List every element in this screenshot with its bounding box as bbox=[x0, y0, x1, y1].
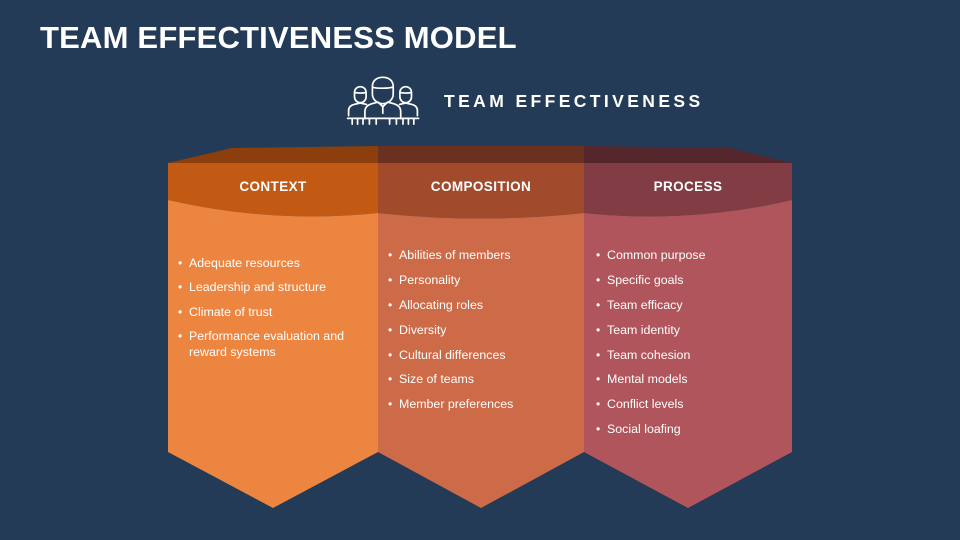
bullet-icon: • bbox=[178, 256, 189, 271]
cap-context bbox=[168, 146, 378, 163]
list-item-label: Adequate resources bbox=[189, 256, 378, 271]
list-item: • Performance evaluation and reward syst… bbox=[178, 329, 378, 360]
bullet-icon: • bbox=[596, 372, 607, 387]
team-people-icon bbox=[344, 75, 422, 127]
list-item-label: Specific goals bbox=[607, 273, 796, 288]
bullet-icon: • bbox=[596, 348, 607, 363]
list-item: • Team identity bbox=[596, 323, 796, 338]
list-item: • Climate of trust bbox=[178, 305, 378, 320]
list-item: • Abilities of members bbox=[388, 248, 588, 263]
cap-process bbox=[584, 146, 792, 163]
list-item-label: Leadership and structure bbox=[189, 280, 378, 295]
team-effectiveness-diagram: CONTEXT COMPOSITION PROCESS • Adequate r… bbox=[0, 140, 960, 520]
list-item-label: Social loafing bbox=[607, 422, 796, 437]
list-item: • Member preferences bbox=[388, 397, 588, 412]
list-item: • Size of teams bbox=[388, 372, 588, 387]
bullet-icon: • bbox=[596, 323, 607, 338]
bullet-icon: • bbox=[596, 422, 607, 437]
list-item-label: Mental models bbox=[607, 372, 796, 387]
list-item: • Specific goals bbox=[596, 273, 796, 288]
list-item: • Allocating roles bbox=[388, 298, 588, 313]
column-header-context: CONTEXT bbox=[168, 179, 378, 194]
list-item: • Cultural differences bbox=[388, 348, 588, 363]
list-item-label: Team identity bbox=[607, 323, 796, 338]
list-item-label: Size of teams bbox=[399, 372, 588, 387]
bullet-icon: • bbox=[388, 323, 399, 338]
bullet-icon: • bbox=[388, 397, 399, 412]
column-list-composition: • Abilities of members • Personality • A… bbox=[388, 248, 588, 422]
list-item: • Diversity bbox=[388, 323, 588, 338]
bullet-icon: • bbox=[388, 372, 399, 387]
list-item-label: Personality bbox=[399, 273, 588, 288]
list-item-label: Performance evaluation and reward system… bbox=[189, 329, 378, 360]
bullet-icon: • bbox=[596, 397, 607, 412]
list-item: • Common purpose bbox=[596, 248, 796, 263]
column-header-process: PROCESS bbox=[584, 179, 792, 194]
column-list-context: • Adequate resources • Leadership and st… bbox=[178, 256, 378, 369]
list-item-label: Conflict levels bbox=[607, 397, 796, 412]
list-item: • Team cohesion bbox=[596, 348, 796, 363]
list-item-label: Team cohesion bbox=[607, 348, 796, 363]
list-item: • Mental models bbox=[596, 372, 796, 387]
bullet-icon: • bbox=[388, 298, 399, 313]
slide-canvas: TEAM EFFECTIVENESS MODEL bbox=[0, 0, 960, 540]
list-item: • Conflict levels bbox=[596, 397, 796, 412]
bullet-icon: • bbox=[388, 248, 399, 263]
bullet-icon: • bbox=[178, 329, 189, 344]
logo-label: TEAM EFFECTIVENESS bbox=[444, 91, 704, 112]
list-item: • Adequate resources bbox=[178, 256, 378, 271]
bullet-icon: • bbox=[178, 305, 189, 320]
bullet-icon: • bbox=[178, 280, 189, 295]
list-item-label: Climate of trust bbox=[189, 305, 378, 320]
bullet-icon: • bbox=[388, 348, 399, 363]
column-list-process: • Common purpose • Specific goals • Team… bbox=[596, 248, 796, 447]
list-item-label: Team efficacy bbox=[607, 298, 796, 313]
list-item-label: Allocating roles bbox=[399, 298, 588, 313]
list-item-label: Cultural differences bbox=[399, 348, 588, 363]
bullet-icon: • bbox=[596, 298, 607, 313]
bullet-icon: • bbox=[388, 273, 399, 288]
column-header-composition: COMPOSITION bbox=[378, 179, 584, 194]
bullet-icon: • bbox=[596, 248, 607, 263]
logo-row: TEAM EFFECTIVENESS bbox=[344, 75, 704, 127]
list-item: • Social loafing bbox=[596, 422, 796, 437]
list-item-label: Abilities of members bbox=[399, 248, 588, 263]
page-title: TEAM EFFECTIVENESS MODEL bbox=[40, 20, 517, 56]
list-item: • Personality bbox=[388, 273, 588, 288]
cap-composition bbox=[378, 146, 584, 163]
list-item-label: Diversity bbox=[399, 323, 588, 338]
list-item-label: Member preferences bbox=[399, 397, 588, 412]
list-item: • Team efficacy bbox=[596, 298, 796, 313]
list-item: • Leadership and structure bbox=[178, 280, 378, 295]
list-item-label: Common purpose bbox=[607, 248, 796, 263]
bullet-icon: • bbox=[596, 273, 607, 288]
